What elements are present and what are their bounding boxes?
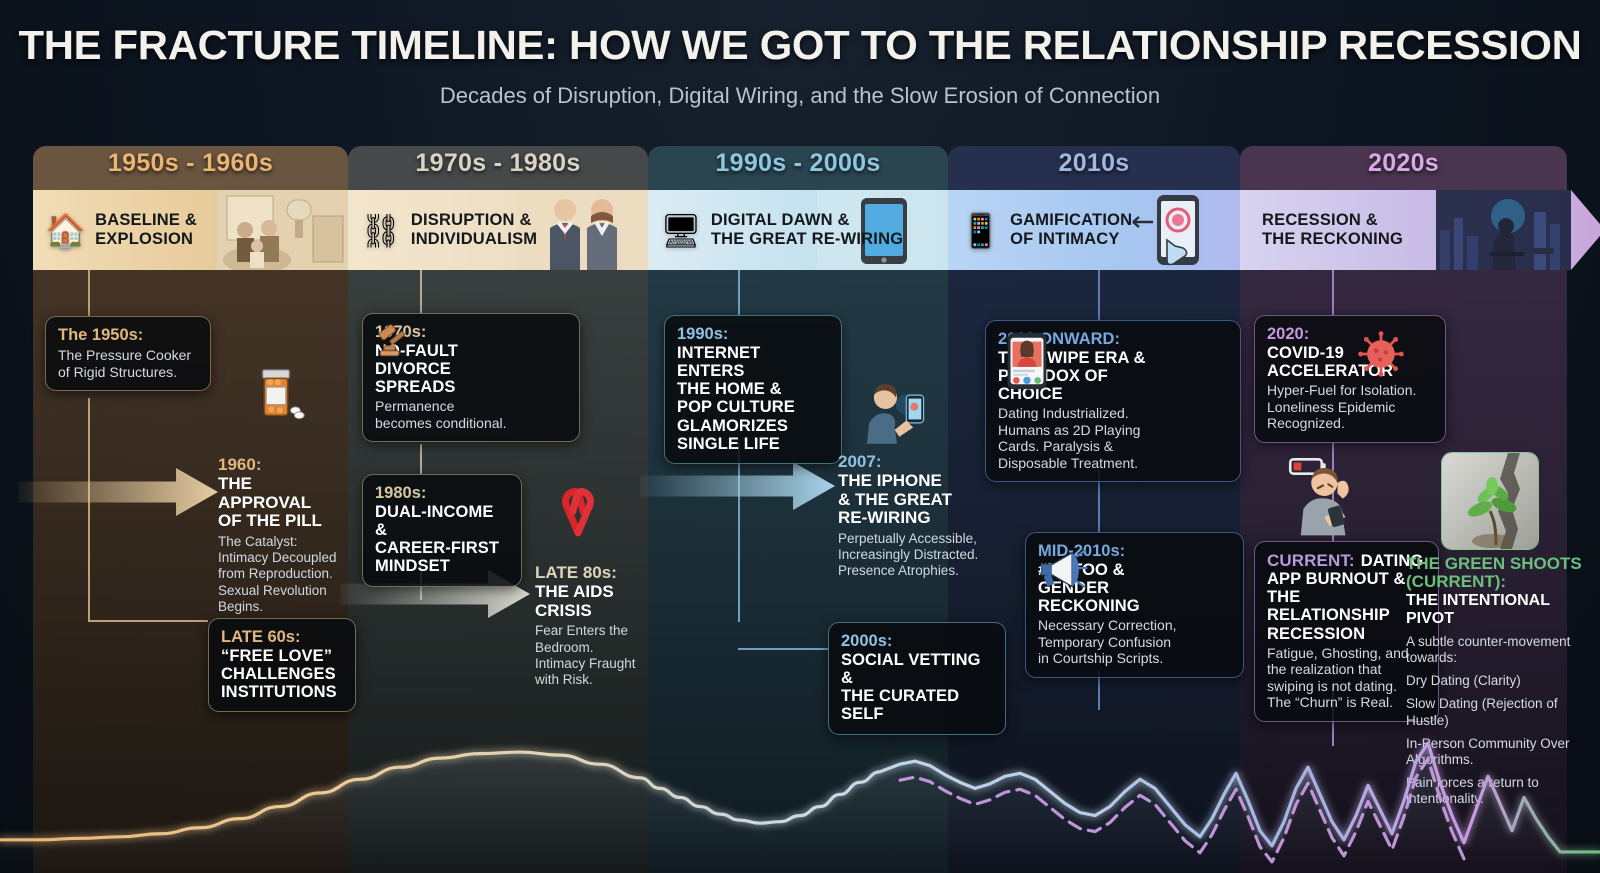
node-heading-wrap: 1990s:INTERNET ENTERSTHE HOME &POP CULTU… (677, 325, 829, 453)
pill-bottle-icon (245, 360, 307, 422)
era-banner-era-2010s[interactable]: 📱GAMIFICATIONOF INTIMACY (948, 190, 1278, 270)
megaphone-icon (1035, 541, 1089, 595)
era-banner-line1: RECESSION & (1262, 211, 1403, 230)
node-body-line: Temporary Confusion (1038, 634, 1231, 651)
node-body: Necessary Correction,Temporary Confusion… (1038, 617, 1231, 667)
node-heading-line: THE HOME & (677, 380, 829, 398)
node-heading-line: RECKONING (1038, 597, 1231, 615)
node-heading: CURRENT:DATING APP BURNOUT & THE RELATIO… (1267, 551, 1426, 643)
era-banner-line2: THE RECKONING (1262, 230, 1403, 249)
connector-line (1098, 270, 1100, 320)
era-banner-line1: GAMIFICATION (1010, 211, 1132, 230)
node-body: Permanencebecomes conditional. (375, 398, 567, 431)
green-shoots-title: THE GREEN SHOOTS (CURRENT): (1406, 555, 1596, 591)
node-body-line: Recognized. (1267, 415, 1433, 432)
node-body-line: Perpetually Accessible, (838, 531, 983, 547)
node-heading: THE AIDSCRISIS (535, 583, 647, 620)
broken-chain-icon: ⛓ (360, 214, 402, 247)
connector-line (738, 442, 740, 622)
era-decade-label: 1990s - 2000s (648, 149, 948, 178)
connector-line (88, 398, 90, 620)
node-heading-line: GLAMORIZES (677, 417, 829, 435)
connector-line (1332, 270, 1334, 315)
era-banner-line1: DISRUPTION & (411, 211, 537, 230)
node-body-line: Cards. Paralysis & (998, 438, 1228, 455)
node-body-line: Dating Industrialized. (998, 405, 1228, 422)
node-year: 2000s: (841, 632, 892, 650)
node-heading: THE APPROVALOF THE PILL (218, 475, 340, 531)
node-year: CURRENT: (1267, 551, 1355, 570)
node-year: LATE 80s: (535, 563, 617, 582)
era-decade-label: 2010s (948, 149, 1240, 178)
node-body-line: Fear Enters the (535, 623, 647, 639)
node-body: Dating Industrialized.Humans as 2D Playi… (998, 405, 1228, 471)
node-body-line: Hyper-Fuel for Isolation. (1267, 382, 1433, 399)
desktop-computer-icon: 🖥 (660, 214, 702, 247)
swipe-phone-icon: 📱 (960, 214, 1001, 247)
era-banner-era-1950s-1960s[interactable]: 🏠BASELINE &EXPLOSION (33, 190, 386, 270)
burnt-out-person-low-battery-icon (1285, 454, 1369, 538)
node-heading-line: CAREER-FIRST (375, 539, 509, 557)
node-2007-iphone[interactable]: 2007:THE iPHONE& THE GREATRE-WIRINGPerpe… (838, 452, 983, 580)
node-heading-line: “FREE LOVE” (221, 647, 343, 665)
era-banner-era-2020s[interactable]: RECESSION &THE RECKONING (1240, 190, 1600, 270)
node-year: LATE 60s: (221, 628, 300, 646)
node-heading-line: POP CULTURE (677, 398, 829, 416)
node-body-line: Begins. (218, 599, 340, 615)
era-banner-line2: OF INTIMACY (1010, 230, 1132, 249)
node-body: Hyper-Fuel for Isolation.Loneliness Epid… (1267, 382, 1433, 432)
node-late-80s-aids-crisis[interactable]: LATE 80s:THE AIDSCRISISFear Enters theBe… (535, 563, 647, 688)
node-1960-the-pill[interactable]: 1960:THE APPROVALOF THE PILLThe Catalyst… (218, 455, 340, 615)
era-decade-label: 1970s - 1980s (348, 149, 648, 178)
node-2020-covid[interactable]: 2020:COVID-19ACCELERATORHyper-Fuel for I… (1254, 315, 1446, 443)
node-heading-line: SPREADS (375, 378, 567, 396)
node-heading-line: DIVORCE (375, 360, 567, 378)
sprout-crack-image (1441, 452, 1539, 550)
node-year: The 1950s: (58, 326, 143, 344)
node-heading-line: THE AIDS (535, 583, 647, 602)
era-banner-line2: INDIVIDUALISM (411, 230, 537, 249)
node-year: 1980s: (375, 484, 426, 502)
era-banner-text: DISRUPTION &INDIVIDUALISM (411, 211, 537, 249)
node-body: The Catalyst:Intimacy Decoupledfrom Repr… (218, 534, 340, 615)
node-heading-wrap: 1980s:DUAL-INCOME &CAREER-FIRSTMINDSET (375, 484, 509, 576)
connection-volatility-waveform (0, 673, 1600, 873)
node-body-line: The Pressure Cooker (58, 347, 198, 364)
era-scene-1950s-family-livingroom-photo (217, 190, 352, 270)
era-banner-line2: EXPLOSION (95, 230, 197, 249)
node-heading-line: OF THE PILL (218, 512, 340, 531)
era-banner-era-1990s-2000s[interactable]: 🖥DIGITAL DAWN &THE GREAT RE-WIRING (648, 190, 986, 270)
node-heading-line: DUAL-INCOME & (375, 503, 509, 539)
era-decade-label: 2020s (1240, 149, 1567, 178)
node-body-line: Intimacy Decoupled (218, 550, 340, 566)
node-heading-line: MINDSET (375, 557, 509, 575)
node-heading-line: ACCELERATOR (1267, 362, 1433, 380)
node-body-line: Fatigue, Ghosting, and (1267, 645, 1426, 662)
era-banner-line1: BASELINE & (95, 211, 197, 230)
red-awareness-ribbon-icon (550, 482, 606, 538)
era-banner-line1: DIGITAL DAWN & (711, 211, 903, 230)
node-body: Perpetually Accessible,Increasingly Dist… (838, 531, 983, 580)
node-heading-wrap: CURRENT:DATING APP BURNOUT & THE RELATIO… (1267, 551, 1426, 643)
node-body-line: in Courtship Scripts. (1038, 650, 1231, 667)
node-heading-wrap: 2007:THE iPHONE& THE GREATRE-WIRING (838, 452, 983, 528)
node-body-line: Presence Atrophies. (838, 563, 983, 579)
page-subtitle: Decades of Disruption, Digital Wiring, a… (0, 83, 1600, 109)
connector-line (738, 270, 740, 315)
node-body-line: Bedroom. (535, 640, 647, 656)
era-banner-text: RECESSION &THE RECKONING (1262, 211, 1403, 249)
node-heading-wrap: The 1950s: (58, 326, 198, 345)
node-body-line: from Reproduction. (218, 566, 340, 582)
infographic-root: THE FRACTURE TIMELINE: HOW WE GOT TO THE… (0, 0, 1600, 873)
era-decade-label: 1950s - 1960s (33, 149, 348, 178)
era-banner-text: DIGITAL DAWN &THE GREAT RE-WIRING (711, 211, 903, 249)
node-body-line: of Rigid Structures. (58, 364, 198, 381)
green-shoots-subtitle: THE INTENTIONAL PIVOT (1406, 592, 1596, 627)
node-heading-line: & THE GREAT (838, 491, 983, 510)
node-body-line: Disposable Treatment. (998, 455, 1228, 472)
connector-line (88, 620, 208, 622)
coronavirus-icon (1355, 328, 1407, 380)
dating-app-profile-icon (996, 330, 1058, 392)
node-heading: DUAL-INCOME &CAREER-FIRSTMINDSET (375, 503, 509, 576)
era-banner-line2: THE GREAT RE-WIRING (711, 230, 903, 249)
node-body-line: Necessary Correction, (1038, 617, 1231, 634)
node-year: 1990s: (677, 325, 728, 343)
node-1980s-dual-income[interactable]: 1980s:DUAL-INCOME &CAREER-FIRSTMINDSET (362, 474, 522, 587)
node-body-line: Increasingly Distracted. (838, 547, 983, 563)
node-body-line: The Catalyst: (218, 534, 340, 550)
node-heading-line: RE-WIRING (838, 509, 983, 528)
node-heading-line: CRISIS (535, 602, 647, 621)
node-year: 2007: (838, 452, 881, 471)
era-scene-man-sitting-alone-dark-room-photo (1436, 190, 1571, 270)
connector-line (420, 270, 422, 313)
node-body-line: Humans as 2D Playing (998, 422, 1228, 439)
node-year: 1960: (218, 455, 261, 474)
node-body: The Pressure Cookerof Rigid Structures. (58, 347, 198, 380)
node-heading-line: THE APPROVAL (218, 475, 340, 512)
node-heading: INTERNET ENTERSTHE HOME &POP CULTUREGLAM… (677, 344, 829, 453)
connector-line (88, 270, 90, 316)
house-family-icon: 🏠 (45, 214, 86, 247)
node-1990s-internet[interactable]: 1990s:INTERNET ENTERSTHE HOME &POP CULTU… (664, 315, 842, 464)
page-title: THE FRACTURE TIMELINE: HOW WE GOT TO THE… (0, 22, 1600, 69)
era-banner-text: GAMIFICATIONOF INTIMACY (1010, 211, 1132, 249)
node-heading-line: SINGLE LIFE (677, 435, 829, 453)
era-banner-text: BASELINE &EXPLOSION (95, 211, 197, 249)
green-shoots-intro: A subtle counter-movement towards: (1406, 634, 1596, 666)
node-heading: COVID-19ACCELERATOR (1267, 344, 1433, 380)
man-looking-at-phone-icon (860, 372, 934, 446)
connector-line (738, 648, 828, 650)
gavel-icon (374, 322, 414, 362)
era-banner-era-1970s-1980s[interactable]: ⛓DISRUPTION &INDIVIDUALISM (348, 190, 686, 270)
node-body-line: Intimacy Fraught (535, 656, 647, 672)
node-the-1950s[interactable]: The 1950s:The Pressure Cookerof Rigid St… (45, 316, 211, 391)
node-body-line: Loneliness Epidemic (1267, 399, 1433, 416)
node-heading-wrap: 2020:COVID-19ACCELERATOR (1267, 325, 1433, 380)
node-heading: THE iPHONE& THE GREATRE-WIRING (838, 472, 983, 528)
header: THE FRACTURE TIMELINE: HOW WE GOT TO THE… (0, 22, 1600, 109)
node-year: 2020: (1267, 325, 1309, 343)
node-heading-wrap: 1960:THE APPROVALOF THE PILL (218, 455, 340, 531)
node-heading-wrap: LATE 80s:THE AIDSCRISIS (535, 563, 647, 620)
node-heading-line: INTERNET ENTERS (677, 344, 829, 380)
node-heading-line: COVID-19 (1267, 344, 1433, 362)
node-body-line: Permanence (375, 398, 567, 415)
connector-line (420, 444, 422, 474)
node-body-line: becomes conditional. (375, 415, 567, 432)
node-body-line: Sexual Revolution (218, 583, 340, 599)
node-heading-line: THE iPHONE (838, 472, 983, 491)
